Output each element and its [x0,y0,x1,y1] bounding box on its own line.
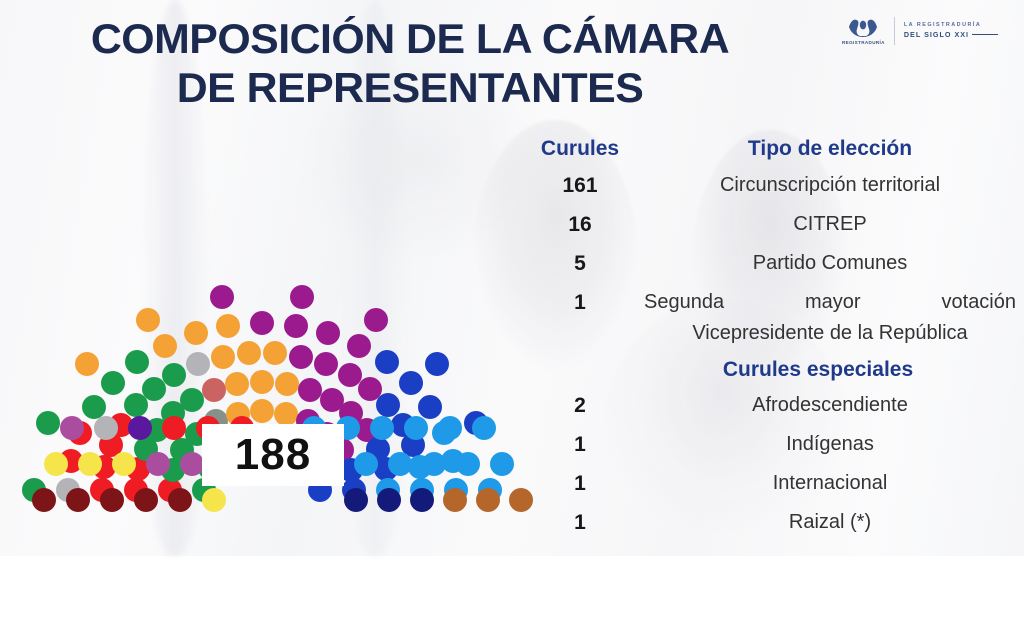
table-row: 161 Circunscripción territorial [520,170,1020,201]
table-row: 16 CITREP [520,209,1020,240]
parliament-seat [128,416,152,440]
registraduria-logo: REGISTRADURÍA LA REGISTRADURÍA DEL SIGLO… [842,16,998,45]
parliament-seat [274,402,298,426]
row-tipo-label: Segunda mayor votación Vicepresidente de… [640,287,1020,349]
section-header-curules-especiales: Curules especiales [520,358,1020,382]
parliament-seat [146,452,170,476]
parliament-seat [94,416,118,440]
parliament-seat [211,345,235,369]
row-tipo-label: Internacional [640,468,1020,499]
row-tipo-label-line-1: Segunda mayor votación [640,287,1020,318]
table-row: 5 Partido Comunes [520,248,1020,279]
parliament-seat [112,452,136,476]
parliament-seat [225,372,249,396]
row-curules-value: 161 [520,170,640,201]
total-seats-value: 188 [235,433,311,477]
row-tipo-label: Circunscripción territorial [640,170,1020,201]
parliament-seat [250,311,274,335]
parliament-seat [289,345,313,369]
parliament-seat [216,314,240,338]
parliament-seat [36,411,60,435]
parliament-seat [32,488,56,512]
table-row: 1 Indígenas [520,429,1020,460]
parliament-seat [456,452,480,476]
row-tipo-label: Partido Comunes [640,248,1020,279]
parliament-seat [168,488,192,512]
row-curules-value: 16 [520,209,640,240]
parliament-seat [472,416,496,440]
row-tipo-label: Afrodescendiente [640,390,1020,421]
logo-divider [894,17,895,45]
parliament-seat [399,371,423,395]
parliament-seat [101,371,125,395]
row-curules-value: 2 [520,390,640,421]
parliament-seat [290,285,314,309]
header-tipo-eleccion: Tipo de elección [640,136,1020,162]
logo-wordmark: REGISTRADURÍA [842,40,885,45]
parliament-seat [410,488,434,512]
parliament-seat [180,452,204,476]
parliament-seat [186,352,210,376]
parliament-seat [344,488,368,512]
parliament-seat [44,452,68,476]
table-row: 1 Internacional [520,468,1020,499]
page-title-line-2: DE REPRESENTANTES [0,63,828,112]
parliament-seat [202,378,226,402]
infographic-root: COMPOSICIÓN DE LA CÁMARA DE REPRESENTANT… [0,0,1024,640]
parliament-seat [250,370,274,394]
parliament-seat [275,372,299,396]
page-title-line-1: COMPOSICIÓN DE LA CÁMARA [0,14,828,63]
parliament-seat [490,452,514,476]
row-tipo-label: CITREP [640,209,1020,240]
parliament-seat [66,488,90,512]
parliament-seat [375,350,399,374]
parliament-seat [422,452,446,476]
logo-rule [972,34,998,36]
parliament-seat [82,395,106,419]
row-tipo-label-line-2: Vicepresidente de la República [640,318,1020,349]
parliament-seat [136,308,160,332]
row-tipo-label: Raizal (*) [640,507,1020,538]
parliament-seat [404,416,428,440]
total-seats-box: 188 [202,424,344,486]
parliament-seat [443,488,467,512]
table-row: 1 Segunda mayor votación Vicepresidente … [520,287,1020,349]
parliament-seat [388,452,412,476]
parliament-seat [476,488,500,512]
parliament-seat [142,377,166,401]
parliament-seat [370,416,394,440]
curules-table: Curules Tipo de elección 161 Circunscrip… [520,136,1020,546]
row-curules-value: 1 [520,287,640,318]
logo-tagline-bottom: DEL SIGLO XXI [904,30,998,39]
page-title: COMPOSICIÓN DE LA CÁMARA DE REPRESENTANT… [0,14,820,112]
parliament-seat [100,488,124,512]
row-curules-value: 1 [520,429,640,460]
row-tipo-label: Indígenas [640,429,1020,460]
parliament-seat [425,352,449,376]
logo-mark: REGISTRADURÍA [842,16,885,45]
table-header-row: Curules Tipo de elección [520,136,1020,162]
parliament-seat [438,416,462,440]
parliament-seat [338,363,362,387]
header-curules: Curules [520,136,640,162]
condor-icon [846,16,880,38]
table-row: 1 Raizal (*) [520,507,1020,538]
parliament-seat [354,452,378,476]
parliament-seat [237,341,261,365]
parliament-seat [153,334,177,358]
row-curules-value: 5 [520,248,640,279]
parliament-seat [377,488,401,512]
table-row: 2 Afrodescendiente [520,390,1020,421]
parliament-seat [509,488,533,512]
parliament-seat [364,308,388,332]
parliament-seat [184,321,208,345]
parliament-seat [250,399,274,423]
parliament-seat [162,416,186,440]
parliament-seat [284,314,308,338]
parliament-seat [418,395,442,419]
parliament-seat [347,334,371,358]
parliament-seat [202,488,226,512]
logo-tagline: LA REGISTRADURÍA DEL SIGLO XXI [904,22,998,39]
logo-tagline-top: LA REGISTRADURÍA [904,22,998,28]
parliament-seat [263,341,287,365]
row-curules-value: 1 [520,507,640,538]
parliament-seat [298,378,322,402]
row-curules-value: 1 [520,468,640,499]
parliament-seat [78,452,102,476]
parliament-seat [180,388,204,412]
parliament-seat [60,416,84,440]
parliament-seat [134,488,158,512]
